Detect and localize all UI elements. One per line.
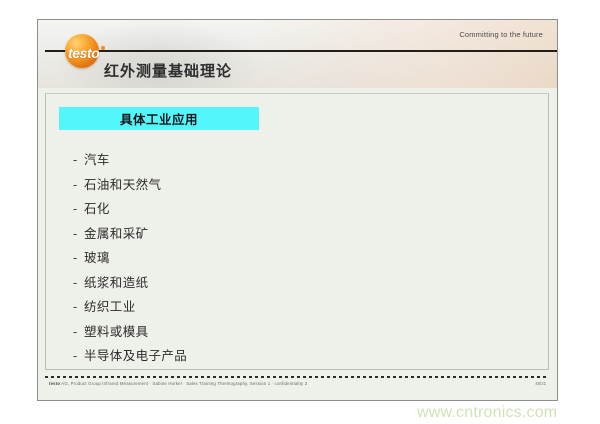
header-divider-rule xyxy=(45,50,557,52)
list-item-label: 塑料或模具 xyxy=(84,321,149,340)
bullet-dash-icon: - xyxy=(73,226,84,241)
list-item: - 石油和天然气 xyxy=(73,174,538,199)
footer-credit-text: AG, Product Group Infrared Measurement ·… xyxy=(60,381,307,386)
list-item-label: 纸浆和造纸 xyxy=(84,272,149,291)
list-item-label: 半导体及电子产品 xyxy=(84,345,187,364)
footer-dotted-rule xyxy=(45,376,549,378)
bullet-list: - 汽车 - 石油和天然气 - 石化 - 金属和采矿 - 玻璃 xyxy=(73,149,538,370)
slide-header: Committing to the future testo 红外测量基础理论 xyxy=(38,20,557,88)
slide-footer: testo AG, Product Group Infrared Measure… xyxy=(38,374,557,400)
list-item: - 汽车 xyxy=(73,149,538,174)
slide-body: 具体工业应用 - 汽车 - 石油和天然气 - 石化 - 金属和采矿 xyxy=(38,88,557,374)
content-frame: 具体工业应用 - 汽车 - 石油和天然气 - 石化 - 金属和采矿 xyxy=(45,93,549,370)
list-item: - 半导体及电子产品 xyxy=(73,345,538,370)
testo-logo-dot-icon xyxy=(101,46,105,50)
list-item-label: 金属和采矿 xyxy=(84,223,149,242)
bullet-dash-icon: - xyxy=(73,324,84,339)
slide-title: 红外测量基础理论 xyxy=(104,60,232,81)
list-item: - 石化 xyxy=(73,198,538,223)
list-item: - 玻璃 xyxy=(73,247,538,272)
presentation-slide: Committing to the future testo 红外测量基础理论 … xyxy=(37,19,558,401)
list-item-label: 石化 xyxy=(84,198,110,217)
company-tagline: Committing to the future xyxy=(459,30,543,39)
list-item-label: 纺织工业 xyxy=(84,296,136,315)
footer-credit-line: testo AG, Product Group Infrared Measure… xyxy=(49,381,307,386)
testo-logo-wordmark: testo xyxy=(68,45,99,61)
footer-brand: testo xyxy=(49,381,60,386)
bullet-dash-icon: - xyxy=(73,348,84,363)
bullet-dash-icon: - xyxy=(73,177,84,192)
subtitle-text: 具体工业应用 xyxy=(120,109,198,128)
list-item: - 纸浆和造纸 xyxy=(73,272,538,297)
bullet-dash-icon: - xyxy=(73,152,84,167)
bullet-dash-icon: - xyxy=(73,275,84,290)
bullet-dash-icon: - xyxy=(73,201,84,216)
bullet-dash-icon: - xyxy=(73,299,84,314)
list-item-label: 玻璃 xyxy=(84,247,110,266)
slide-page-number: 48/21 xyxy=(535,381,546,386)
subtitle-highlight-box: 具体工业应用 xyxy=(59,107,259,130)
site-watermark: www.cntronics.com xyxy=(417,404,557,422)
list-item: - 塑料或模具 xyxy=(73,321,538,346)
list-item: - 纺织工业 xyxy=(73,296,538,321)
list-item-label: 石油和天然气 xyxy=(84,174,161,193)
list-item-label: 汽车 xyxy=(84,149,110,168)
bullet-dash-icon: - xyxy=(73,250,84,265)
list-item: - 金属和采矿 xyxy=(73,223,538,248)
